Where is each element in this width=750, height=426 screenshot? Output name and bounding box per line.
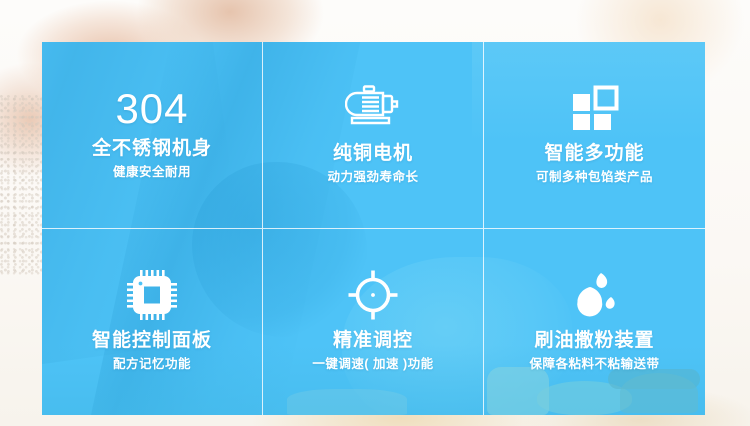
feature-title: 智能多功能	[544, 143, 644, 165]
feature-cell-copper-motor: 纯铜电机 动力强劲寿命长	[263, 42, 484, 229]
grid-squares-icon	[566, 83, 624, 133]
stainless-steel-grade-number: 304	[115, 88, 188, 130]
crosshair-icon	[344, 270, 402, 320]
feature-subtitle: 动力强劲寿命长	[327, 170, 418, 185]
feature-subtitle: 保障各粘料不粘输送带	[529, 357, 659, 372]
feature-title: 智能控制面板	[92, 330, 212, 352]
feature-title: 全不锈钢机身	[92, 138, 212, 160]
feature-cell-oil-powder: 刷油撒粉装置 保障各粘料不粘输送带	[484, 229, 705, 416]
feature-title: 精准调控	[333, 330, 413, 352]
motor-icon	[344, 83, 402, 133]
feature-title: 刷油撒粉装置	[534, 330, 654, 352]
feature-subtitle: 健康安全耐用	[113, 165, 191, 180]
droplet-icon	[566, 270, 624, 320]
feature-cell-control-panel: 智能控制面板 配方记忆功能	[42, 229, 263, 416]
feature-cell-multifunction: 智能多功能 可制多种包馅类产品	[484, 42, 705, 229]
feature-subtitle: 可制多种包馅类产品	[536, 170, 653, 185]
chip-icon	[123, 270, 181, 320]
feature-cell-stainless-steel: 304 全不锈钢机身 健康安全耐用	[42, 42, 263, 229]
feature-title: 纯铜电机	[333, 143, 413, 165]
feature-cell-precise-control: 精准调控 一键调速( 加速 )功能	[263, 229, 484, 416]
feature-subtitle: 配方记忆功能	[113, 357, 191, 372]
feature-panel: 304 全不锈钢机身 健康安全耐用 纯铜电机 动力强劲寿命	[42, 42, 705, 415]
feature-grid: 304 全不锈钢机身 健康安全耐用 纯铜电机 动力强劲寿命	[42, 42, 705, 415]
feature-subtitle: 一键调速( 加速 )功能	[312, 357, 433, 372]
